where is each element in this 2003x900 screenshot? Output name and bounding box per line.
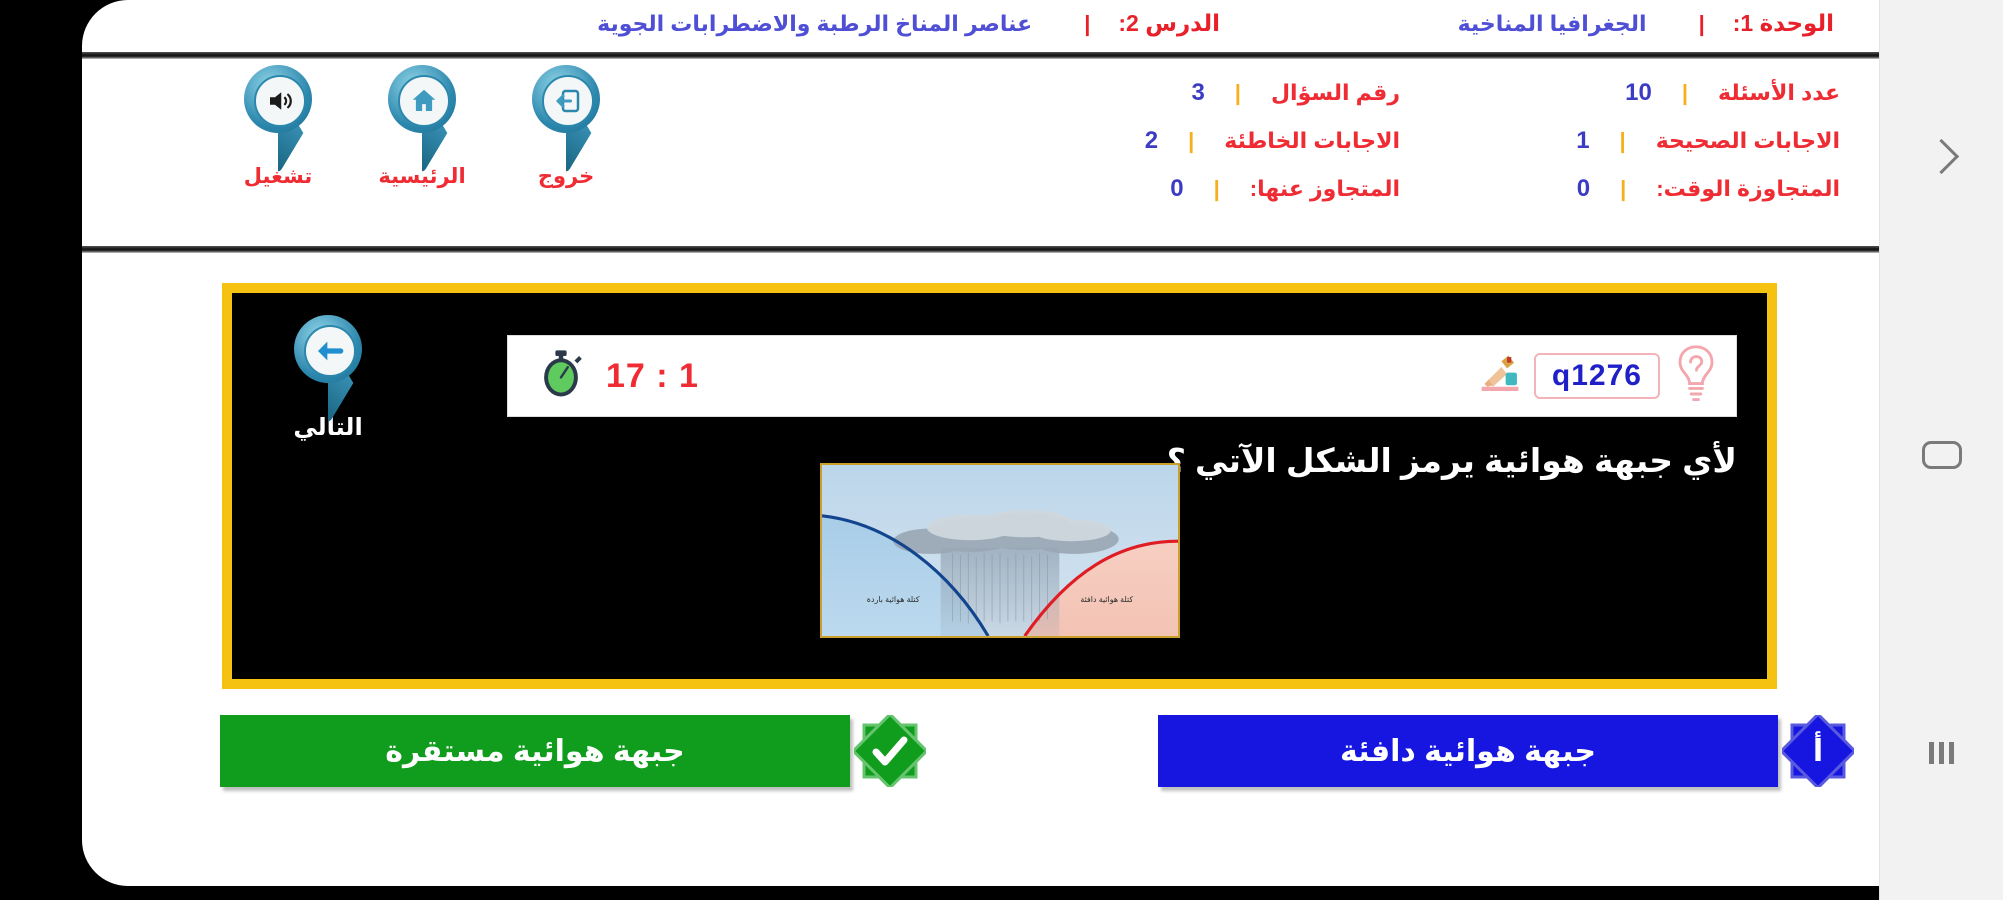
stat-value: 0 (1577, 175, 1590, 203)
header-title-row: الوحدة 1: | الجغرافيا المناخية الدرس 2: … (82, 0, 1880, 52)
question-id-box: q1276 (1534, 353, 1660, 399)
sound-pin (241, 65, 315, 161)
stat-value: 3 (1191, 79, 1204, 107)
lesson-label: الدرس 2: (1118, 10, 1220, 37)
timer-value: 1 : 17 (606, 357, 699, 396)
home-button[interactable]: الرئيسية (366, 65, 478, 189)
timer-bar: 1 : 17 (507, 335, 1737, 417)
lesson-value: عناصر المناخ الرطبة والاضطرابات الجوية (597, 11, 1032, 37)
stat-skipped: المتجاوز عنها: | 0 (1000, 165, 1400, 213)
stopwatch-icon (534, 347, 588, 406)
sound-button[interactable]: تشغيل (222, 65, 334, 189)
stats-panel: عدد الأسئلة | 10 رقم السؤال | 3 الاجابات… (82, 59, 1880, 246)
stat-separator: | (1235, 80, 1241, 106)
figure-caption-right: كتلة هوائية دافئة (1080, 595, 1133, 604)
question-id: q1276 (1552, 359, 1642, 392)
unit-value: الجغرافيا المناخية (1458, 11, 1647, 37)
check-star-badge-icon (854, 715, 926, 787)
exit-button[interactable]: خروج (510, 65, 622, 189)
stat-label: الاجابات الصحيحة (1656, 128, 1840, 154)
question-panel: التالي 1 : 17 (222, 283, 1777, 689)
stat-label: المتجاوز عنها: (1250, 176, 1400, 202)
stat-timed-out: المتجاوزة الوقت: | 0 (1450, 165, 1840, 213)
figure-caption-left: كتلة هوائية باردة (866, 595, 919, 604)
screen: الوحدة 1: | الجغرافيا المناخية الدرس 2: … (0, 0, 2003, 900)
answer-badge-letter: أ (1782, 715, 1854, 787)
stat-separator: | (1620, 176, 1626, 202)
answer-key-a: أ (1813, 734, 1823, 769)
answer-badge-check (854, 715, 926, 787)
answer-button-a[interactable]: جبهة هوائية دافئة (1158, 715, 1778, 787)
stat-wrong-answers: الاجابات الخاطئة | 2 (1000, 117, 1400, 165)
stat-correct-answers: الاجابات الصحيحة | 1 (1450, 117, 1840, 165)
back-chevron-icon[interactable] (1880, 126, 2003, 186)
writing-hand-icon (1476, 352, 1524, 401)
exit-pin (529, 65, 603, 161)
unit-separator: | (1699, 11, 1705, 37)
stat-label: رقم السؤال (1271, 80, 1400, 106)
speaker-icon (254, 75, 306, 127)
next-pin (291, 315, 365, 411)
home-pill-icon[interactable] (1880, 425, 2003, 485)
stat-separator: | (1188, 128, 1194, 154)
stat-label: المتجاوزة الوقت: (1656, 176, 1840, 202)
exit-icon (542, 75, 594, 127)
arrow-left-icon (304, 325, 356, 377)
breadcrumb-lesson: الدرس 2: | عناصر المناخ الرطبة والاضطراب… (597, 10, 1220, 37)
stat-value: 10 (1625, 79, 1652, 107)
app-card: الوحدة 1: | الجغرافيا المناخية الدرس 2: … (82, 0, 1880, 886)
answer-button-b[interactable]: جبهة هوائية مستقرة (220, 715, 850, 787)
unit-label: الوحدة 1: (1733, 10, 1834, 37)
header-divider-bottom (82, 246, 1880, 253)
recents-bars-icon[interactable] (1880, 723, 2003, 783)
header-divider-top (82, 52, 1880, 59)
stat-label: عدد الأسئلة (1718, 80, 1840, 106)
android-nav-rail (1879, 0, 2003, 900)
stat-separator: | (1214, 176, 1220, 202)
question-bulb-icon (1670, 342, 1722, 411)
stat-separator: | (1620, 128, 1626, 154)
air-front-diagram: كتلة هوائية باردة كتلة هوائية دافئة (822, 465, 1178, 636)
question-figure: كتلة هوائية باردة كتلة هوائية دافئة (820, 463, 1180, 638)
next-button[interactable]: التالي (260, 315, 396, 442)
toolbar: خروج الرئيسية (222, 65, 622, 189)
stat-label: الاجابات الخاطئة (1224, 128, 1400, 154)
stat-separator: | (1682, 80, 1688, 106)
breadcrumb-unit: الوحدة 1: | الجغرافيا المناخية (1458, 10, 1834, 37)
stat-value: 1 (1576, 127, 1589, 155)
question-text: لأي جبهة هوائية يرمز الشكل الآتي ؟ (1167, 441, 1737, 480)
answer-options: أ جبهة هوائية دافئة جبهة هوائية مستقرة (82, 715, 1880, 825)
home-pin (385, 65, 459, 161)
timer: 1 : 17 (534, 347, 699, 406)
stat-questions-total: عدد الأسئلة | 10 (1450, 69, 1840, 117)
stat-value: 0 (1170, 175, 1183, 203)
stat-value: 2 (1145, 127, 1158, 155)
answer-option-a[interactable]: أ جبهة هوائية دافئة (1158, 715, 1858, 787)
home-icon (398, 75, 450, 127)
answer-option-b[interactable]: جبهة هوائية مستقرة (220, 715, 930, 787)
question-id-group: q1276 (1476, 342, 1722, 411)
lesson-separator: | (1084, 11, 1090, 37)
stat-question-number: رقم السؤال | 3 (1000, 69, 1400, 117)
